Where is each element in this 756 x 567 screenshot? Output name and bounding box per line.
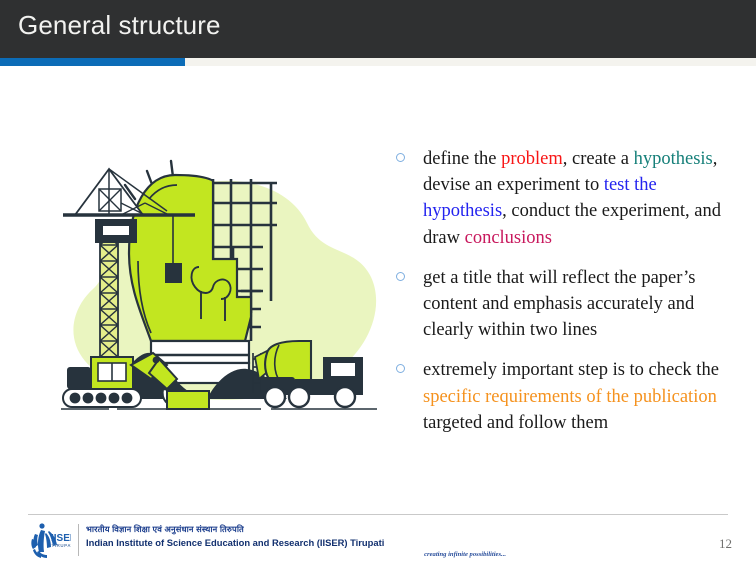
hollow-circle-bullet-icon [396, 364, 405, 373]
page-number: 12 [719, 536, 732, 552]
list-item: get a title that will reflect the paper’… [392, 265, 722, 344]
bullet-text-2: get a title that will reflect the paper’… [423, 265, 722, 344]
bullet-3-seg-1: specific requirements of the publication [423, 387, 717, 407]
list-item: extremely important step is to check the… [392, 357, 722, 436]
slide-body: define the problem, create a hypothesis,… [0, 66, 756, 514]
bullet-3-seg-0: extremely important step is to check the [423, 360, 719, 380]
bullet-1-seg-3: hypothesis [634, 149, 713, 169]
page-title: General structure [18, 10, 221, 41]
hollow-circle-bullet-icon [396, 272, 405, 281]
footer-institution-text: भारतीय विज्ञान शिक्षा एवं अनुसंधान संस्थ… [86, 523, 506, 560]
bullet-1-seg-7: conclusions [465, 228, 552, 248]
slide-footer: IISER TIRUPATI भारतीय विज्ञान शिक्षा एवं… [0, 514, 756, 567]
construction-lightbulb-illustration [55, 141, 385, 431]
footer-hindi-line: भारतीय विज्ञान शिक्षा एवं अनुसंधान संस्थ… [86, 523, 506, 535]
crane-hook-block [165, 263, 182, 283]
hollow-circle-bullet-icon [396, 153, 405, 162]
iiser-logo: IISER TIRUPATI [31, 522, 71, 560]
slide-title-bar: General structure [0, 0, 756, 58]
accent-bar-blue [0, 58, 185, 66]
bullet-2-seg-0: get a title that will reflect the paper’… [423, 268, 695, 340]
footer-logo-divider [78, 524, 79, 556]
bullet-list: define the problem, create a hypothesis,… [392, 146, 722, 450]
footer-tagline: creating infinite possibilities... [86, 550, 506, 560]
bullet-1-seg-2: , create a [563, 149, 634, 169]
bullet-3-seg-2: targeted and follow them [423, 413, 608, 433]
accent-strip [0, 58, 756, 66]
logo-secondary-text: TIRUPATI [52, 543, 72, 548]
footer-divider [28, 514, 728, 515]
bullet-1-seg-1: problem [501, 149, 563, 169]
material-skip [167, 391, 209, 409]
bullet-1-seg-0: define the [423, 149, 501, 169]
bullet-text-3: extremely important step is to check the… [423, 357, 722, 436]
bullet-text-1: define the problem, create a hypothesis,… [423, 146, 722, 251]
footer-english-line: Indian Institute of Science Education an… [86, 536, 506, 549]
list-item: define the problem, create a hypothesis,… [392, 146, 722, 251]
